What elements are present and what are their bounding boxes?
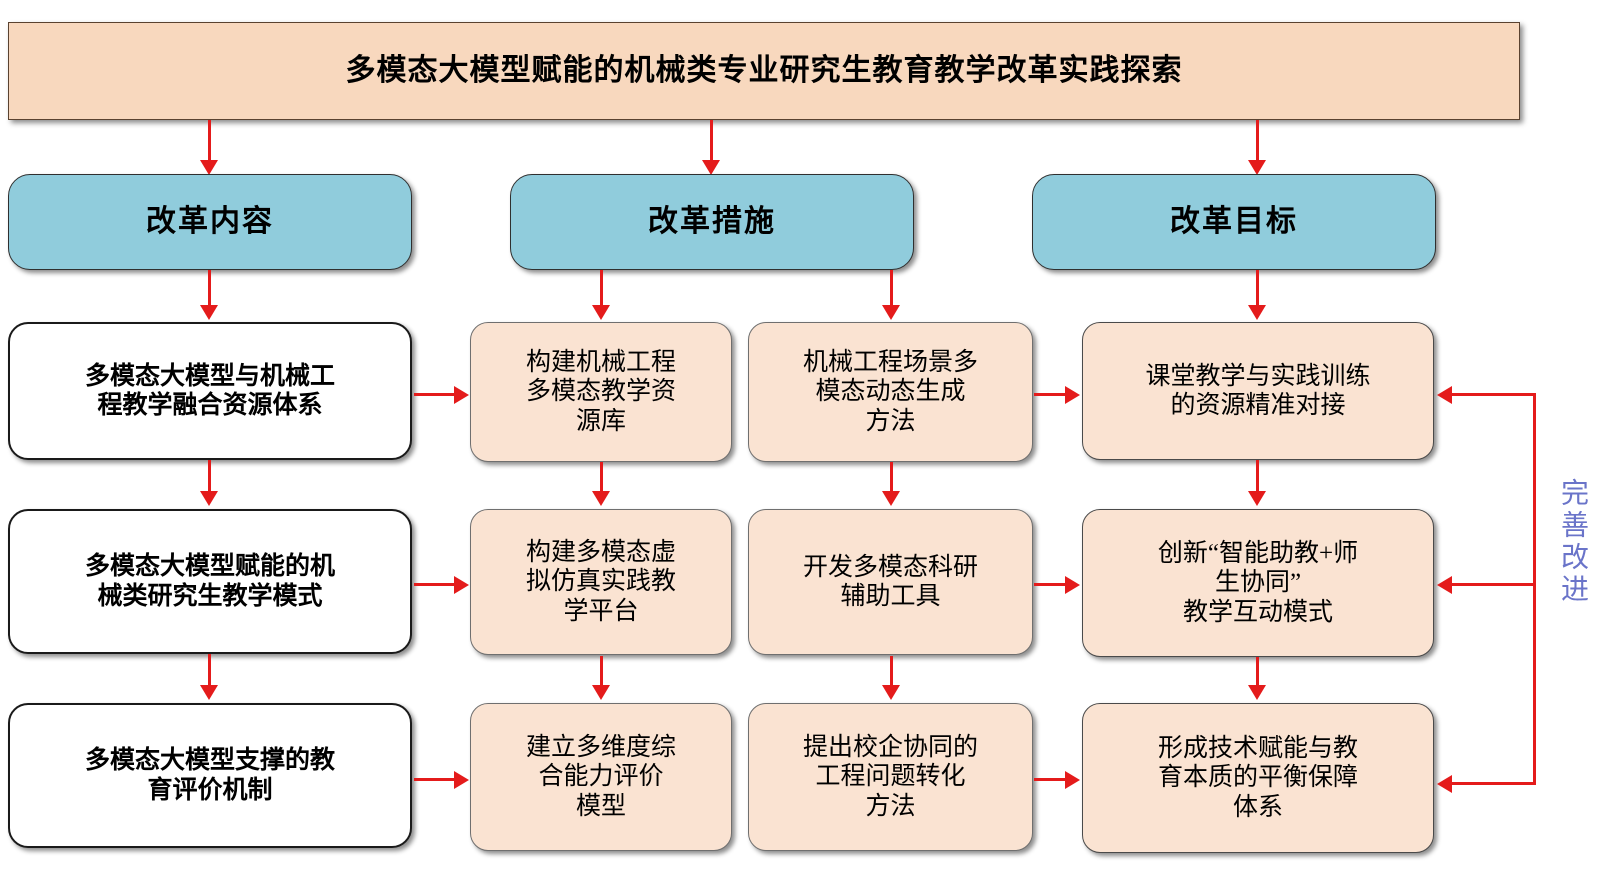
- arrowhead-goal2-to-goal3: [1248, 685, 1266, 700]
- goal-box-row3: 形成技术赋能与教 育本质的平衡保障 体系: [1082, 703, 1434, 853]
- arrowhead-measureB3-to-goal3: [1065, 771, 1080, 789]
- measure-b-box-row3: 提出校企协同的 工程问题转化 方法: [748, 703, 1033, 851]
- arrowhead-header3-to-goal1: [1248, 305, 1266, 320]
- connector-measureA2-to-measureA3: [600, 656, 603, 686]
- measure-a-box-row3: 建立多维度综 合能力评价 模型: [470, 703, 732, 851]
- arrowhead-title-to-header-2: [702, 160, 720, 175]
- connector-title-to-header-1: [208, 120, 211, 164]
- content-box-row3: 多模态大模型支撑的教 育评价机制: [8, 703, 412, 848]
- arrowhead-measureB1-to-measureB2: [882, 491, 900, 506]
- arrowhead-content2-to-content3: [200, 685, 218, 700]
- connector-measureB3-to-goal3: [1034, 778, 1067, 781]
- arrowhead-measureA1-to-measureA2: [592, 491, 610, 506]
- arrowhead-content3-to-measureA3: [454, 771, 469, 789]
- arrowhead-goal1-to-goal2: [1248, 491, 1266, 506]
- connector-measureB2-to-measureB3: [890, 656, 893, 686]
- flowchart-canvas: 多模态大模型赋能的机械类专业研究生教育教学改革实践探索 改革内容 改革措施 改革…: [0, 0, 1600, 876]
- header-reform-goals: 改革目标: [1032, 174, 1436, 270]
- connector-header3-to-goal1: [1256, 270, 1259, 308]
- connector-goal2-to-goal3: [1256, 657, 1259, 686]
- arrowhead-content1-to-content2: [200, 491, 218, 506]
- connector-header1-to-row1: [208, 270, 211, 308]
- connector-measureB1-to-goal1: [1034, 393, 1067, 396]
- feedback-branch-goal1: [1452, 393, 1536, 396]
- feedback-branch-goal2: [1452, 583, 1536, 586]
- connector-header2-to-measureB1: [890, 270, 893, 308]
- goal-box-row1: 课堂教学与实践训练 的资源精准对接: [1082, 322, 1434, 460]
- arrowhead-header2-to-measureB1: [882, 305, 900, 320]
- connector-measureB1-to-measureB2: [890, 462, 893, 493]
- feedback-loop-label: 完善改进: [1548, 478, 1588, 606]
- connector-measureA1-to-measureA2: [600, 462, 603, 493]
- arrowhead-content2-to-measureA2: [454, 576, 469, 594]
- connector-measureB2-to-goal2: [1034, 583, 1067, 586]
- arrowhead-content1-to-measureA1: [454, 386, 469, 404]
- diagram-title: 多模态大模型赋能的机械类专业研究生教育教学改革实践探索: [8, 22, 1520, 120]
- connector-title-to-header-2: [710, 120, 713, 164]
- header-reform-measures: 改革措施: [510, 174, 914, 270]
- content-box-row1: 多模态大模型与机械工 程教学融合资源体系: [8, 322, 412, 460]
- connector-header2-to-measureA1: [600, 270, 603, 308]
- arrowhead-title-to-header-3: [1248, 160, 1266, 175]
- content-box-row2: 多模态大模型赋能的机 械类研究生教学模式: [8, 509, 412, 654]
- arrowhead-feedback-goal3: [1437, 775, 1452, 793]
- arrowhead-title-to-header-1: [200, 160, 218, 175]
- connector-content1-to-measureA1: [414, 393, 456, 396]
- goal-box-row2: 创新“智能助教+师 生协同” 教学互动模式: [1082, 509, 1434, 657]
- arrowhead-measureA2-to-measureA3: [592, 685, 610, 700]
- feedback-branch-goal3: [1452, 782, 1536, 785]
- connector-content1-to-content2: [208, 460, 211, 493]
- arrowhead-header1-to-row1: [200, 305, 218, 320]
- arrowhead-measureB1-to-goal1: [1065, 386, 1080, 404]
- header-reform-content: 改革内容: [8, 174, 412, 270]
- connector-title-to-header-3: [1256, 120, 1259, 164]
- measure-a-box-row1: 构建机械工程 多模态教学资 源库: [470, 322, 732, 462]
- connector-content3-to-measureA3: [414, 778, 456, 781]
- connector-content2-to-measureA2: [414, 583, 456, 586]
- arrowhead-header2-to-measureA1: [592, 305, 610, 320]
- connector-content2-to-content3: [208, 654, 211, 686]
- feedback-loop-spine: [1533, 393, 1536, 785]
- connector-goal1-to-goal2: [1256, 460, 1259, 493]
- arrowhead-feedback-goal2: [1437, 576, 1452, 594]
- arrowhead-feedback-goal1: [1437, 386, 1452, 404]
- measure-a-box-row2: 构建多模态虚 拟仿真实践教 学平台: [470, 509, 732, 655]
- measure-b-box-row1: 机械工程场景多 模态动态生成 方法: [748, 322, 1033, 462]
- arrowhead-measureB2-to-goal2: [1065, 576, 1080, 594]
- arrowhead-measureB2-to-measureB3: [882, 685, 900, 700]
- measure-b-box-row2: 开发多模态科研 辅助工具: [748, 509, 1033, 655]
